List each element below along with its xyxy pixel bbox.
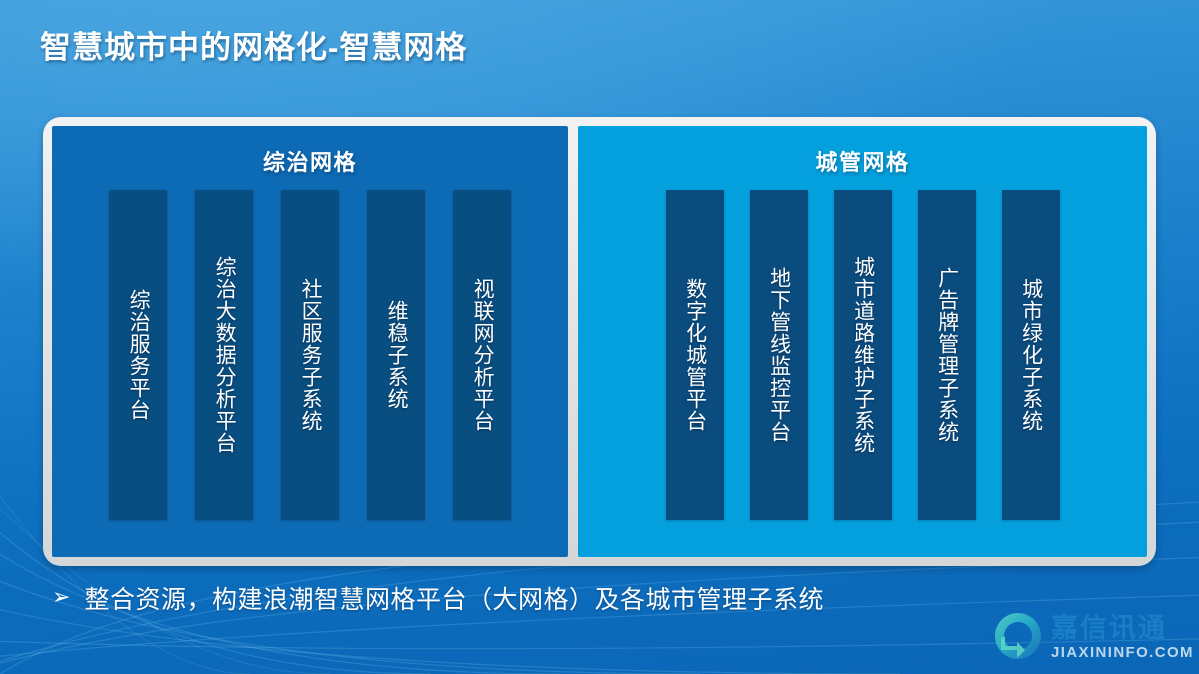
card-zongzhi-service-platform[interactable]: 综治服务平台 [109, 190, 167, 520]
diagram-frame: 综治网格 综治服务平台 综治大数据分析平台 社区服务子系统 维稳子系统 视联网分… [43, 117, 1156, 566]
card-urban-road-maintenance-subsystem[interactable]: 城市道路维护子系统 [834, 190, 892, 520]
watermark-logo: 嘉信讯通 JIAXININFO.COM [987, 602, 1195, 672]
card-urban-greening-subsystem[interactable]: 城市绿化子系统 [1002, 190, 1060, 520]
panel-zongzhi-title: 综治网格 [263, 145, 357, 177]
card-video-network-analysis-platform[interactable]: 视联网分析平台 [453, 190, 511, 520]
slide-canvas: 智慧城市中的网格化-智慧网格 综治网格 综治服务平台 综治大数据分析平台 社区服… [0, 0, 1199, 674]
panel-chengguan-card-list: 数字化城管平台 地下管线监控平台 城市道路维护子系统 广告牌管理子系统 城市绿化… [578, 190, 1147, 520]
watermark-text-block: 嘉信讯通 JIAXININFO.COM [1051, 615, 1194, 660]
watermark-cn-name: 嘉信讯通 [1051, 615, 1194, 642]
watermark-domain: JIAXININFO.COM [1051, 645, 1194, 660]
card-community-service-subsystem[interactable]: 社区服务子系统 [281, 190, 339, 520]
circular-arrow-logo-icon [987, 606, 1049, 668]
panel-chengguan-grid: 城管网格 数字化城管平台 地下管线监控平台 城市道路维护子系统 广告牌管理子系统… [578, 126, 1147, 557]
card-digital-city-management-platform[interactable]: 数字化城管平台 [666, 190, 724, 520]
panel-zongzhi-grid: 综治网格 综治服务平台 综治大数据分析平台 社区服务子系统 维稳子系统 视联网分… [52, 126, 568, 557]
card-underground-pipeline-monitoring-platform[interactable]: 地下管线监控平台 [750, 190, 808, 520]
page-title: 智慧城市中的网格化-智慧网格 [40, 22, 467, 67]
bullet-line: ➢ 整合资源，构建浪潮智慧网格平台（大网格）及各城市管理子系统 [52, 580, 824, 616]
bullet-text: 整合资源，构建浪潮智慧网格平台（大网格）及各城市管理子系统 [84, 580, 824, 616]
panel-zongzhi-card-list: 综治服务平台 综治大数据分析平台 社区服务子系统 维稳子系统 视联网分析平台 [52, 190, 568, 520]
chevron-right-bullet-icon: ➢ [52, 586, 70, 608]
panel-chengguan-title: 城管网格 [815, 145, 909, 177]
card-zongzhi-bigdata-analysis-platform[interactable]: 综治大数据分析平台 [195, 190, 253, 520]
card-stability-maintenance-subsystem[interactable]: 维稳子系统 [367, 190, 425, 520]
card-billboard-management-subsystem[interactable]: 广告牌管理子系统 [918, 190, 976, 520]
